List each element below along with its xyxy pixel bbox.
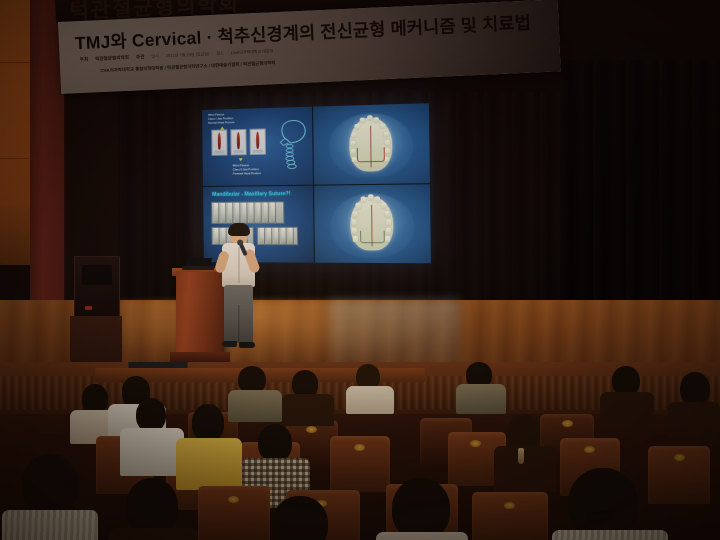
cervical-spine-skull-diagram xyxy=(273,117,309,171)
banner-place-label: 장소 xyxy=(216,51,224,57)
banner-org-label: 주최 xyxy=(80,57,89,63)
slide-quadrant-maxillary-arch-marked xyxy=(313,103,430,184)
audience-body xyxy=(282,394,334,426)
audience-body xyxy=(228,390,282,422)
seat xyxy=(472,492,548,540)
banner-date-value: 2012년 7월 29일 (일요일) xyxy=(166,51,210,59)
audience-head xyxy=(680,372,710,406)
laptop xyxy=(182,258,214,272)
slide-heading-suture: Mandibular - Maxillary Suture?! xyxy=(212,191,290,198)
audience-area xyxy=(0,362,720,540)
banner-org-name: 턱관절균형의학회 xyxy=(95,55,129,63)
audience-head xyxy=(272,496,328,540)
pa-loudspeaker xyxy=(74,256,120,320)
audience-head xyxy=(392,478,450,540)
seat xyxy=(648,446,710,504)
audience-head xyxy=(22,454,78,516)
seat xyxy=(198,486,270,540)
audience-body xyxy=(552,530,668,540)
audience-body xyxy=(120,428,184,476)
audience-body xyxy=(2,510,98,540)
audience-body xyxy=(346,386,394,414)
slide-quadrant-maxillary-arch-midline xyxy=(314,184,431,264)
left-wall-panel-lower xyxy=(0,205,30,265)
audience-head xyxy=(508,414,540,450)
audience-body xyxy=(176,438,242,490)
presenter-hair xyxy=(228,223,250,236)
audience-body xyxy=(456,384,506,414)
presenter-trousers xyxy=(224,285,253,343)
water-bottle xyxy=(518,448,524,464)
lecture-hall-photo: 턱관절균형의학회 TMJ와 Cervical · 척추신경계의 전신균형 메커니… xyxy=(0,0,720,540)
audience-head xyxy=(192,404,224,442)
presenter xyxy=(215,225,263,360)
slide-quadrant-muscle-strips: Wrist Flexion Class I Jaw Position Norma… xyxy=(202,107,313,186)
banner-place-value: CHA의과학대학교 대강당 xyxy=(231,48,274,56)
slide-caption-bottom: Wrist Flexion Class II Jaw Position Forw… xyxy=(233,164,261,176)
audience-head xyxy=(258,424,292,462)
seat xyxy=(330,436,390,492)
audience-body xyxy=(108,528,198,540)
audience-body xyxy=(376,532,468,540)
audience-body xyxy=(600,392,654,426)
audience-body xyxy=(668,402,720,438)
audience-body xyxy=(494,446,556,492)
audience-head xyxy=(136,398,166,432)
banner-date-label: 일시 xyxy=(151,53,159,59)
banner-host-label: 주관 xyxy=(136,54,145,60)
slide-caption-top: Wrist Flexion Class I Jaw Position Norma… xyxy=(208,113,235,125)
